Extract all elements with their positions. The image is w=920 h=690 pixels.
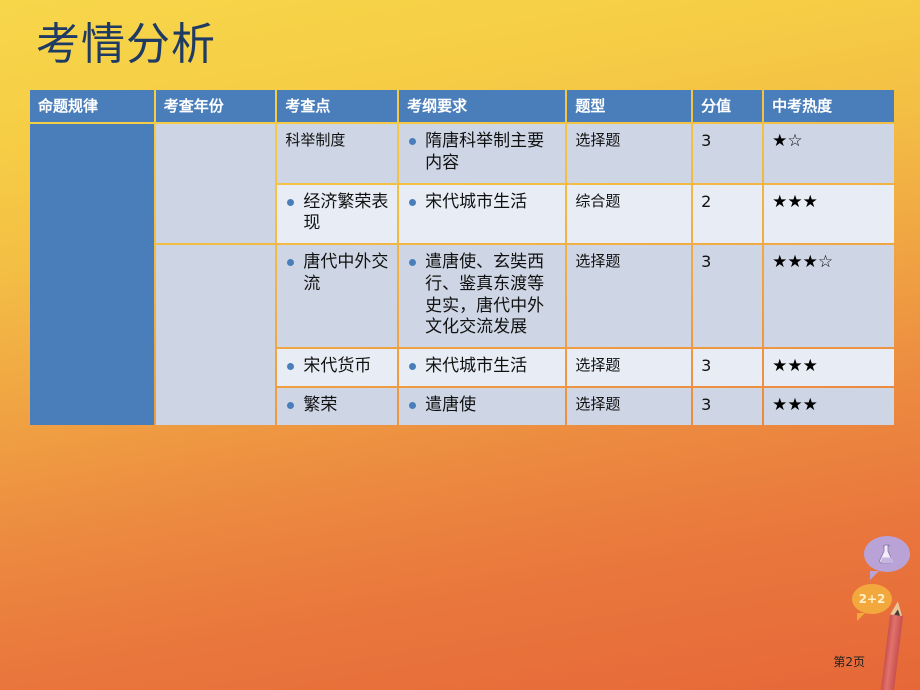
cell-type: 选择题 [567,245,691,347]
column-header-kao-cha-nian-fen[interactable]: 考查年份 [156,90,276,122]
bullet-icon [287,259,294,266]
slide-canvas: 考情分析 命题规律 考查年份 考查点 考纲要求 题型 分值 中考热度 [0,0,920,690]
cell-type-text: 选择题 [575,356,685,376]
exam-analysis-table: 命题规律 考查年份 考查点 考纲要求 题型 分值 中考热度 科举制度 [28,88,896,427]
cell-score: 3 [693,349,762,386]
cell-type-text: 选择题 [575,395,685,415]
column-header-kao-gang-yao-qiu[interactable]: 考纲要求 [399,90,565,122]
heat-stars: ★★★☆ [772,252,888,272]
cell-point: 繁荣 [277,388,397,425]
cell-heat: ★★★☆ [764,245,894,347]
cell-point: 经济繁荣表现 [277,185,397,244]
cell-heat: ★☆ [764,124,894,183]
cell-year-group-1 [156,124,276,243]
cell-point: 唐代中外交流 [277,245,397,347]
math-speech-bubble: 2+2 [852,584,892,614]
cell-type-text: 选择题 [575,131,685,151]
column-header-zhong-kao-re-du[interactable]: 中考热度 [764,90,894,122]
bullet-icon [409,363,416,370]
heat-stars: ★★★ [772,192,888,212]
cell-requirement-text: 遣唐使、玄奘西行、鉴真东渡等史实，唐代中外文化交流发展 [425,252,559,339]
cell-type: 选择题 [567,124,691,183]
cell-year-group-2 [156,245,276,425]
cell-score-text: 3 [701,131,756,151]
cell-type: 选择题 [567,388,691,425]
cell-requirement: 宋代城市生活 [399,349,565,386]
cell-score-text: 3 [701,356,756,376]
bullet-icon [409,138,416,145]
column-header-fen-zhi[interactable]: 分值 [693,90,762,122]
cell-type-text: 综合题 [575,192,685,212]
table-header-row: 命题规律 考查年份 考查点 考纲要求 题型 分值 中考热度 [30,90,894,122]
page-number-label: 第2页 [833,653,865,670]
cell-type: 选择题 [567,349,691,386]
cell-requirement: 隋唐科举制主要内容 [399,124,565,183]
table-row[interactable]: 科举制度 隋唐科举制主要内容 选择题 3 ★☆ [30,124,894,183]
bullet-icon [409,199,416,206]
bullet-icon [287,363,294,370]
heat-stars: ★☆ [772,131,888,151]
column-header-kao-cha-dian[interactable]: 考查点 [277,90,397,122]
flask-speech-bubble [864,536,910,572]
heat-stars: ★★★ [772,395,888,415]
cell-point-text: 繁荣 [303,395,391,417]
cell-score: 3 [693,124,762,183]
cell-type-text: 选择题 [575,252,685,272]
cell-heat: ★★★ [764,185,894,244]
cell-heat: ★★★ [764,388,894,425]
bubble-label-text: 2+2 [852,584,892,614]
cell-point: 科举制度 [277,124,397,183]
cell-point-text: 科举制度 [285,131,391,151]
bullet-icon [409,259,416,266]
pencil-icon [880,614,903,690]
cell-requirement-text: 隋唐科举制主要内容 [425,131,559,175]
page-title: 考情分析 [36,16,216,74]
cell-score-text: 2 [701,192,756,212]
cell-point-text: 经济繁荣表现 [303,192,391,236]
flask-icon [864,536,910,572]
cell-requirement: 宋代城市生活 [399,185,565,244]
column-header-ming-ti-gui-lv[interactable]: 命题规律 [30,90,154,122]
column-header-ti-xing[interactable]: 题型 [567,90,691,122]
cell-point-text: 唐代中外交流 [303,252,391,296]
heat-stars: ★★★ [772,356,888,376]
cell-score: 2 [693,185,762,244]
cell-score-text: 3 [701,395,756,415]
cell-rule-merged [30,124,154,425]
cell-requirement-text: 宋代城市生活 [425,356,559,378]
cell-requirement-text: 宋代城市生活 [425,192,559,214]
cell-score: 3 [693,388,762,425]
cell-point-text: 宋代货币 [303,356,391,378]
cell-type: 综合题 [567,185,691,244]
cell-score-text: 3 [701,252,756,272]
bullet-icon [287,199,294,206]
cell-point: 宋代货币 [277,349,397,386]
table-row[interactable]: 唐代中外交流 遣唐使、玄奘西行、鉴真东渡等史实，唐代中外文化交流发展 选择题 3 [30,245,894,347]
bullet-icon [409,402,416,409]
cell-requirement: 遣唐使、玄奘西行、鉴真东渡等史实，唐代中外文化交流发展 [399,245,565,347]
cell-requirement-text: 遣唐使 [425,395,559,417]
bullet-icon [287,402,294,409]
cell-score: 3 [693,245,762,347]
cell-heat: ★★★ [764,349,894,386]
cell-requirement: 遣唐使 [399,388,565,425]
